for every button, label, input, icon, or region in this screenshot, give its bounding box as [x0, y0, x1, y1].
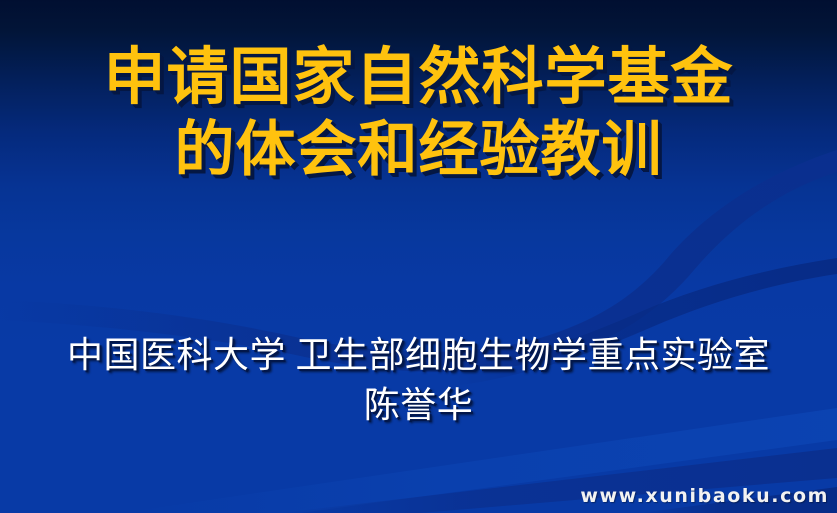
- slide-title: 申请国家自然科学基金 的体会和经验教训: [0, 42, 837, 186]
- slide-subtitle: 中国医科大学 卫生部细胞生物学重点实验室 陈誉华: [0, 330, 837, 430]
- subtitle-affiliation: 中国医科大学 卫生部细胞生物学重点实验室: [0, 330, 837, 380]
- title-line-1: 申请国家自然科学基金: [0, 42, 837, 114]
- watermark-url: www.xunibaoku.com: [580, 485, 829, 507]
- presentation-slide: 申请国家自然科学基金 的体会和经验教训 中国医科大学 卫生部细胞生物学重点实验室…: [0, 0, 837, 513]
- title-line-2: 的体会和经验教训: [0, 114, 837, 186]
- subtitle-author: 陈誉华: [0, 380, 837, 430]
